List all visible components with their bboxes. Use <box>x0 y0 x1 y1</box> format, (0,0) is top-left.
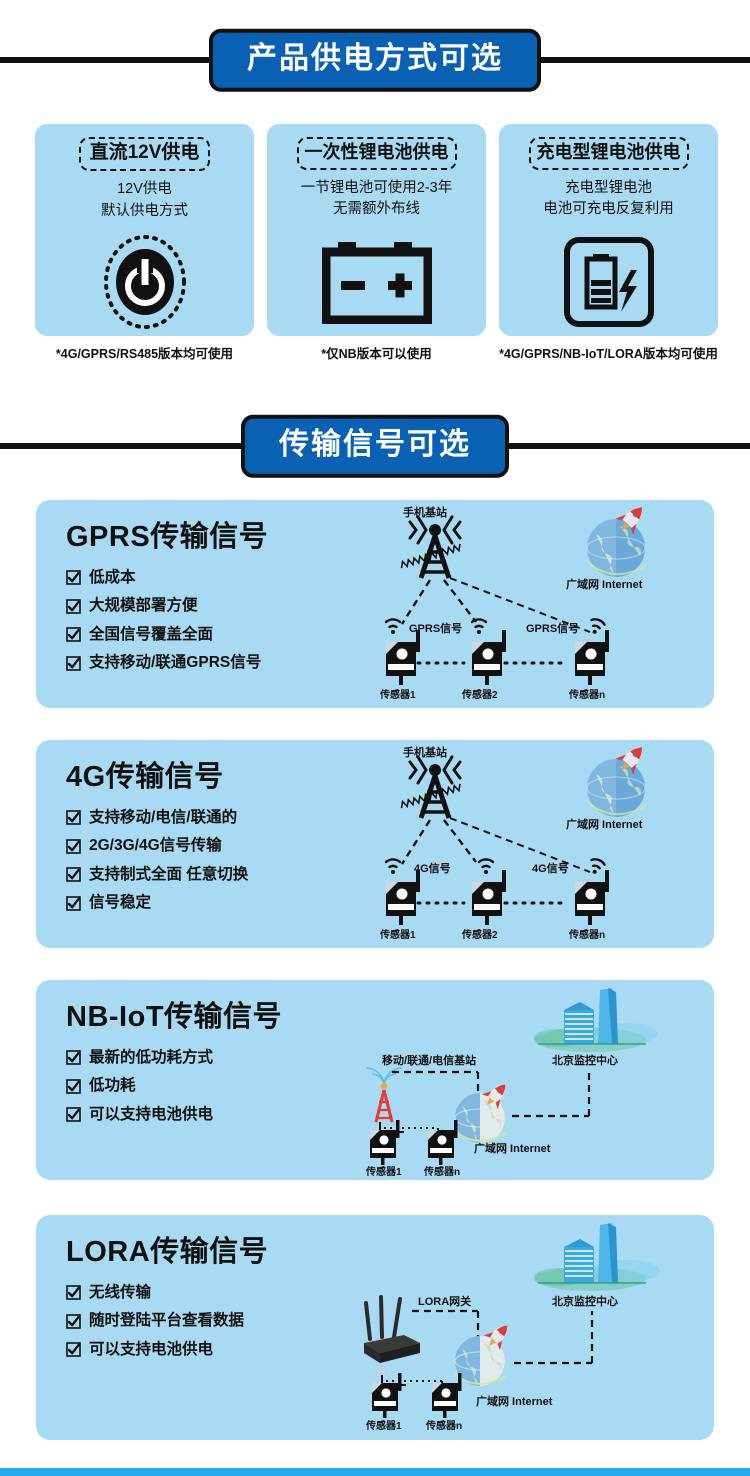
list-item: 支持制式全面 任意切换 <box>66 867 248 883</box>
list-item: 支持移动/电信/联通的 <box>66 810 248 826</box>
power-card-subline: 12V供电 <box>101 179 188 201</box>
list-item: 全国信号覆盖全面 <box>66 627 268 643</box>
list-item: 2G/3G/4G信号传输 <box>66 838 248 854</box>
ray-sensorn <box>450 818 590 872</box>
ray-sensor1 <box>402 820 430 864</box>
list-item-label: 支持移动/电信/联通的 <box>89 810 237 826</box>
list-item: 无线传输 <box>66 1285 268 1301</box>
banner-title: 产品供电方式可选 <box>247 42 503 77</box>
wifi-arc-icon-1 <box>386 859 400 874</box>
list-item-label: 全国信号覆盖全面 <box>89 627 213 643</box>
power-card-title: 充电型锂电池供电 <box>529 137 689 170</box>
signal-card-nbiot[interactable]: NB-IoT传输信号 最新的低功耗方式 低功耗 可以支持电池供电 移动/联通/电… <box>36 980 714 1180</box>
power-card-note: *仅NB版本可以使用 <box>264 344 489 364</box>
signal-card-text: LORA传输信号 无线传输 随时登陆平台查看数据 可以支持电池供电 <box>36 1215 268 1370</box>
checkbox-check-icon <box>66 570 81 585</box>
signal-diagram-nbiot: 移动/联通/电信基站 北京监控中心 广域网 Internet 传感器1 传感器n <box>354 980 714 1180</box>
banner-box: 产品供电方式可选 <box>209 29 541 92</box>
power-card-note: *4G/GPRS/NB-IoT/LORA版本均可使用 <box>496 344 721 364</box>
banner-box: 传输信号可选 <box>241 415 509 478</box>
signal-feature-list: 最新的低功耗方式 低功耗 可以支持电池供电 <box>66 1050 282 1123</box>
power-card-subline: 电池可充电反复利用 <box>543 199 674 221</box>
section-banner-power: 产品供电方式可选 <box>0 18 750 102</box>
list-item-label: 可以支持电池供电 <box>89 1107 213 1123</box>
list-item-label: 2G/3G/4G信号传输 <box>89 838 222 854</box>
checkbox-check-icon <box>66 1285 81 1300</box>
globe-internet-icon <box>587 759 646 817</box>
list-item-label: 低成本 <box>89 570 136 586</box>
list-item: 低成本 <box>66 570 268 586</box>
power-button-icon <box>101 228 189 336</box>
list-item-label: 大规模部署方便 <box>89 598 198 614</box>
list-item-label: 可以支持电池供电 <box>89 1342 213 1358</box>
power-card-note: *4G/GPRS/RS485版本均可使用 <box>32 344 257 364</box>
checkbox-check-icon <box>66 1079 81 1094</box>
wifi-arc-icon-3 <box>587 858 605 876</box>
ray-sensorn <box>450 578 590 632</box>
power-card-subline: 充电型锂电池 <box>543 178 674 200</box>
sensor-device-icon <box>432 1373 462 1418</box>
banner-title: 传输信号可选 <box>279 428 471 463</box>
ray-sensor2 <box>444 580 476 622</box>
signal-card-gprs[interactable]: GPRS传输信号 低成本 大规模部署方便 全国信号覆盖全面 支持移动/联通GPR… <box>36 500 714 708</box>
signal-card-text: GPRS传输信号 低成本 大规模部署方便 全国信号覆盖全面 支持移动/联通GPR… <box>36 500 268 684</box>
power-card-subtext: 一节锂电池可使用2-3年 无需额外布线 <box>301 178 452 222</box>
power-card-primary-lithium[interactable]: 一次性锂电池供电 一节锂电池可使用2-3年 无需额外布线 *仅NB版本可以使用 <box>267 124 486 364</box>
car-battery-icon <box>322 227 432 336</box>
checkbox-check-icon <box>66 1050 81 1065</box>
power-card-dc12v[interactable]: 直流12V供电 12V供电 默认供电方式 *4G/GPRS/RS485版本均可使… <box>35 124 254 364</box>
power-card-title: 一次性锂电池供电 <box>297 137 457 170</box>
signal-card-text: 4G传输信号 支持移动/电信/联通的 2G/3G/4G信号传输 支持制式全面 任… <box>36 740 248 924</box>
globe-internet-icon <box>587 519 646 577</box>
sensor-device-icon <box>472 630 506 685</box>
sensor-device-icon <box>575 630 609 685</box>
signal-card-text: NB-IoT传输信号 最新的低功耗方式 低功耗 可以支持电池供电 <box>36 980 282 1135</box>
wifi-arc-icon-2 <box>472 619 486 634</box>
city-skyline-icon <box>534 1223 660 1291</box>
sensor-device-icon <box>575 870 609 925</box>
checkbox-check-icon <box>66 1314 81 1329</box>
list-item: 支持移动/联通GPRS信号 <box>66 655 268 671</box>
signal-card-lora[interactable]: LORA传输信号 无线传输 随时登陆平台查看数据 可以支持电池供电 LORA网关… <box>36 1215 714 1440</box>
wifi-arc-icon-1 <box>386 619 400 634</box>
list-item: 大规模部署方便 <box>66 598 268 614</box>
sensor-device-icon <box>472 870 506 925</box>
signal-card-4g[interactable]: 4G传输信号 支持移动/电信/联通的 2G/3G/4G信号传输 支持制式全面 任… <box>36 740 714 948</box>
ray-sensor2 <box>444 820 476 862</box>
checkbox-check-icon <box>66 810 81 825</box>
list-item-label: 支持制式全面 任意切换 <box>89 867 248 883</box>
sensor-device-icon <box>386 630 420 685</box>
list-item: 最新的低功耗方式 <box>66 1050 282 1066</box>
signal-feature-list: 无线传输 随时登陆平台查看数据 可以支持电池供电 <box>66 1285 268 1358</box>
list-item-label: 低功耗 <box>89 1078 136 1094</box>
section-banner-signal: 传输信号可选 <box>0 404 750 488</box>
power-card-subline: 无需额外布线 <box>301 199 452 221</box>
signal-card-title: GPRS传输信号 <box>66 522 268 554</box>
ray-sensor1 <box>402 580 430 624</box>
list-item: 随时登陆平台查看数据 <box>66 1313 268 1329</box>
list-item-label: 支持移动/联通GPRS信号 <box>89 655 261 671</box>
list-item-label: 最新的低功耗方式 <box>89 1050 213 1066</box>
wifi-arc-icon-3 <box>587 618 605 636</box>
checkbox-check-icon <box>66 656 81 671</box>
signal-card-title: NB-IoT传输信号 <box>66 1002 282 1034</box>
checkbox-check-icon <box>66 867 81 882</box>
signal-card-title: 4G传输信号 <box>66 762 248 794</box>
power-card-subtext: 12V供电 默认供电方式 <box>101 179 188 223</box>
power-options-row: 直流12V供电 12V供电 默认供电方式 *4G/GPRS/RS485版本均可使… <box>35 124 719 364</box>
bottom-accent-strip <box>0 1468 750 1476</box>
lora-gateway-icon <box>364 1297 420 1379</box>
sensor-device-icon <box>386 870 420 925</box>
list-item: 可以支持电池供电 <box>66 1107 282 1123</box>
sensor-device-icon <box>428 1120 458 1165</box>
list-item-label: 随时登陆平台查看数据 <box>89 1313 244 1329</box>
checkbox-check-icon <box>66 896 81 911</box>
city-skyline-icon <box>534 988 658 1052</box>
cell-tower-icon <box>410 517 460 578</box>
signal-feature-list: 低成本 大规模部署方便 全国信号覆盖全面 支持移动/联通GPRS信号 <box>66 570 268 671</box>
wifi-arc-icon-2 <box>479 859 493 874</box>
checkbox-check-icon <box>66 1107 81 1122</box>
list-item: 可以支持电池供电 <box>66 1342 268 1358</box>
checkbox-check-icon <box>66 627 81 642</box>
list-item-label: 无线传输 <box>89 1285 151 1301</box>
list-item: 信号稳定 <box>66 895 248 911</box>
cell-tower-icon <box>410 757 460 818</box>
list-item-label: 信号稳定 <box>89 895 151 911</box>
signal-card-title: LORA传输信号 <box>66 1237 268 1269</box>
signal-diagram-gprs: 手机基站 广域网 Internet GPRS信号 GPRS信号 传感器1 传感器… <box>364 500 714 708</box>
power-card-subline: 一节锂电池可使用2-3年 <box>301 178 452 200</box>
checkbox-check-icon <box>66 1342 81 1357</box>
signal-feature-list: 支持移动/电信/联通的 2G/3G/4G信号传输 支持制式全面 任意切换 信号稳… <box>66 810 248 911</box>
power-card-title: 直流12V供电 <box>79 137 211 171</box>
list-item: 低功耗 <box>66 1078 282 1094</box>
power-card-subtext: 充电型锂电池 电池可充电反复利用 <box>543 178 674 222</box>
signal-diagram-4g: 手机基站 广域网 Internet 4G信号 4G信号 传感器1 传感器2 传感… <box>364 740 714 948</box>
sensor-device-icon <box>372 1373 402 1418</box>
checkbox-check-icon <box>66 839 81 854</box>
checkbox-check-icon <box>66 599 81 614</box>
power-card-subline: 默认供电方式 <box>101 201 188 223</box>
signal-diagram-lora: LORA网关 北京监控中心 广域网 Internet 传感器1 传感器n <box>354 1215 714 1440</box>
rechargeable-battery-icon <box>563 227 655 336</box>
power-card-rechargeable-lithium[interactable]: 充电型锂电池供电 充电型锂电池 电池可充电反复利用 *4G/GPRS/NB-Io… <box>499 124 718 364</box>
